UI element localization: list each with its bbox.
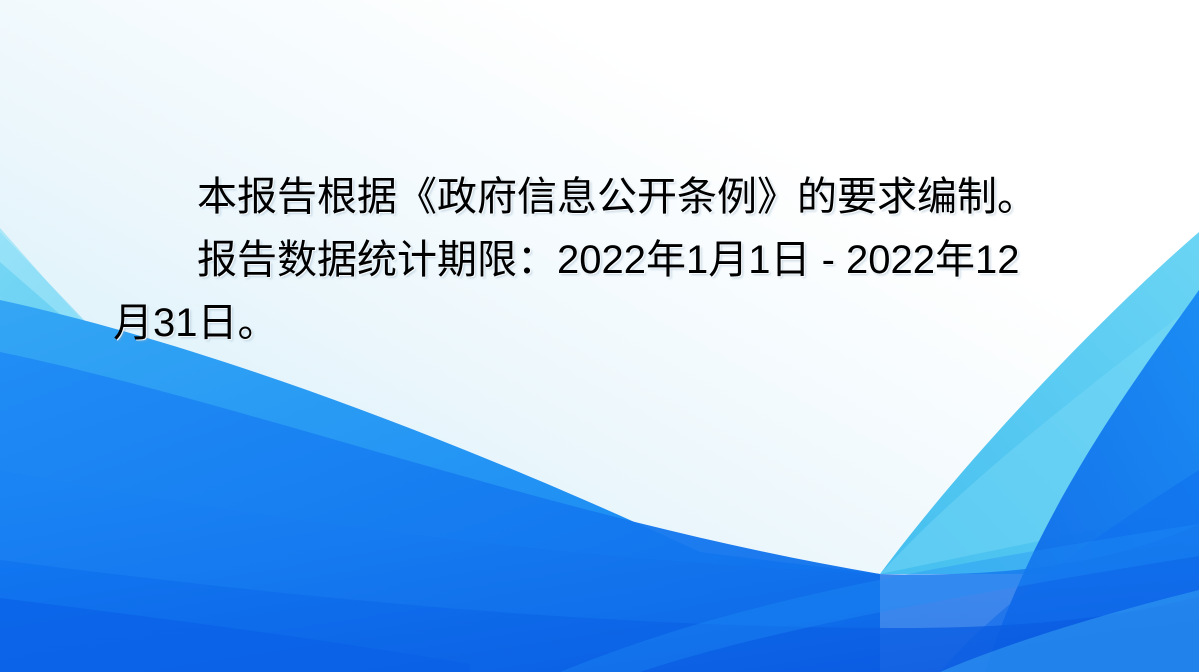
- body-line-1: 本报告根据《政府信息公开条例》的要求编制。: [113, 166, 1123, 229]
- body-line-2: 报告数据统计期限：2022年1月1日 - 2022年12: [113, 229, 1123, 292]
- slide-body-text: 本报告根据《政府信息公开条例》的要求编制。 报告数据统计期限：2022年1月1日…: [113, 166, 1123, 355]
- body-line-3: 月31日。: [113, 292, 1123, 355]
- slide-canvas: 本报告根据《政府信息公开条例》的要求编制。 报告数据统计期限：2022年1月1日…: [0, 0, 1199, 672]
